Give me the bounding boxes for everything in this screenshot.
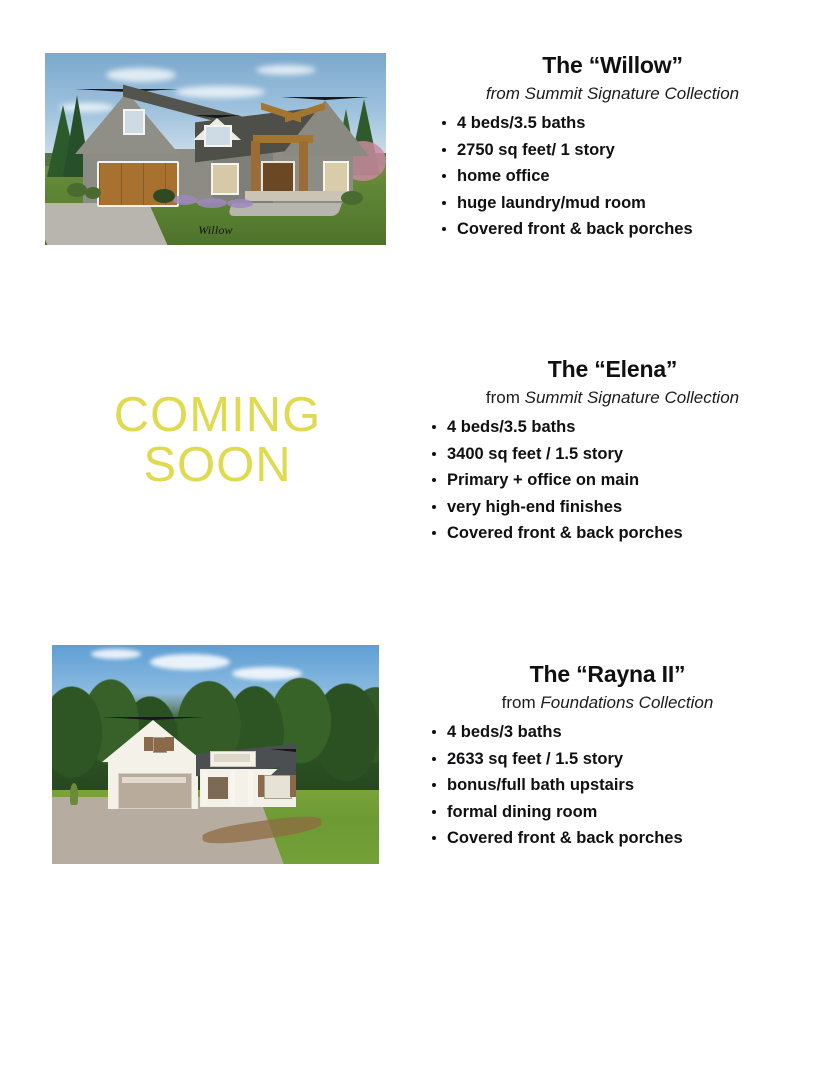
gable-window [123, 109, 145, 135]
roof-right-hip [270, 749, 296, 776]
coming-soon-line-2: SOON [95, 440, 340, 490]
flower-bed [227, 199, 253, 208]
list-item: 4 beds/3.5 baths [430, 414, 810, 441]
list-item: 2633 sq feet / 1.5 story [430, 746, 805, 773]
feature-list: 4 beds/3 baths 2633 sq feet / 1.5 story … [430, 719, 805, 852]
list-item: very high-end finishes [430, 494, 810, 521]
window [323, 161, 349, 193]
gable-shutter [144, 737, 153, 751]
features-wrapper: 4 beds/3 baths 2633 sq feet / 1.5 story … [410, 719, 805, 852]
shrub [85, 187, 101, 199]
from-label: from [502, 693, 541, 712]
list-item: 4 beds/3 baths [430, 719, 805, 746]
window [264, 775, 292, 799]
shrub [153, 189, 175, 203]
porch-post [202, 771, 207, 805]
gable-shutter [165, 737, 174, 751]
coming-soon-line-1: COMING [95, 390, 340, 440]
shrub [70, 783, 78, 805]
dormer-window [204, 125, 232, 147]
listing-image-willow: Willow [45, 53, 386, 245]
collection-name: Summit Signature Collection [525, 84, 739, 103]
image-caption-willow: Willow [45, 223, 386, 238]
porch-post [230, 771, 235, 805]
listing-title: The “Willow” [415, 52, 810, 79]
collection-name: Summit Signature Collection [525, 388, 739, 407]
listing-text-rayna-ii: The “Rayna II” from Foundations Collecti… [410, 661, 805, 852]
cloud [175, 86, 265, 98]
shutter [290, 775, 296, 797]
listing-image-elena: COMING SOON [95, 390, 340, 495]
house-rendering-willow: Willow [45, 53, 386, 245]
listing-title: The “Rayna II” [410, 661, 805, 688]
feature-list: 4 beds/3.5 baths 2750 sq feet/ 1 story h… [440, 110, 810, 243]
window [211, 163, 239, 195]
listing-image-rayna-ii [52, 645, 379, 864]
from-label: from [486, 84, 525, 103]
porch-post [248, 771, 253, 805]
house-photo-rayna-ii [52, 645, 379, 864]
cloud [256, 65, 316, 75]
listing-collection: from Summit Signature Collection [415, 386, 810, 410]
from-label: from [486, 388, 525, 407]
flower-bed [173, 195, 197, 205]
flower-bed [197, 198, 227, 208]
list-item: Primary + office on main [430, 467, 810, 494]
list-item: Covered front & back porches [430, 825, 805, 852]
list-item: 3400 sq feet / 1.5 story [430, 441, 810, 468]
list-item: 2750 sq feet/ 1 story [440, 137, 810, 164]
list-item: huge laundry/mud room [440, 190, 810, 217]
gable-right [281, 97, 369, 156]
listing-collection: from Foundations Collection [410, 691, 805, 715]
list-item: formal dining room [430, 799, 805, 826]
features-wrapper: 4 beds/3.5 baths 3400 sq feet / 1.5 stor… [415, 414, 810, 547]
garage-door-windows [122, 777, 186, 783]
shrub [67, 183, 87, 197]
porch-foundation [245, 191, 353, 201]
listing-text-willow: The “Willow” from Summit Signature Colle… [415, 52, 810, 243]
list-item: home office [440, 163, 810, 190]
features-wrapper: 4 beds/3.5 baths 2750 sq feet/ 1 story h… [415, 110, 810, 243]
porch-post [299, 141, 308, 197]
list-item: 4 beds/3.5 baths [440, 110, 810, 137]
shutter [258, 775, 264, 797]
list-item: Covered front & back porches [440, 216, 810, 243]
collection-name: Foundations Collection [540, 693, 713, 712]
porch-shadow [208, 777, 228, 799]
list-item: bonus/full bath upstairs [430, 772, 805, 799]
coming-soon-placeholder: COMING SOON [95, 390, 340, 490]
listing-collection: from Summit Signature Collection [415, 82, 810, 106]
porch-post [251, 141, 260, 197]
shrub [341, 191, 363, 205]
listing-text-elena: The “Elena” from Summit Signature Collec… [415, 356, 810, 547]
dormer-windows [214, 754, 250, 762]
feature-list: 4 beds/3.5 baths 3400 sq feet / 1.5 stor… [430, 414, 810, 547]
flyer-page: Willow The “Willow” from Summit Signatur… [0, 0, 825, 1068]
list-item: Covered front & back porches [430, 520, 810, 547]
listing-title: The “Elena” [415, 356, 810, 383]
